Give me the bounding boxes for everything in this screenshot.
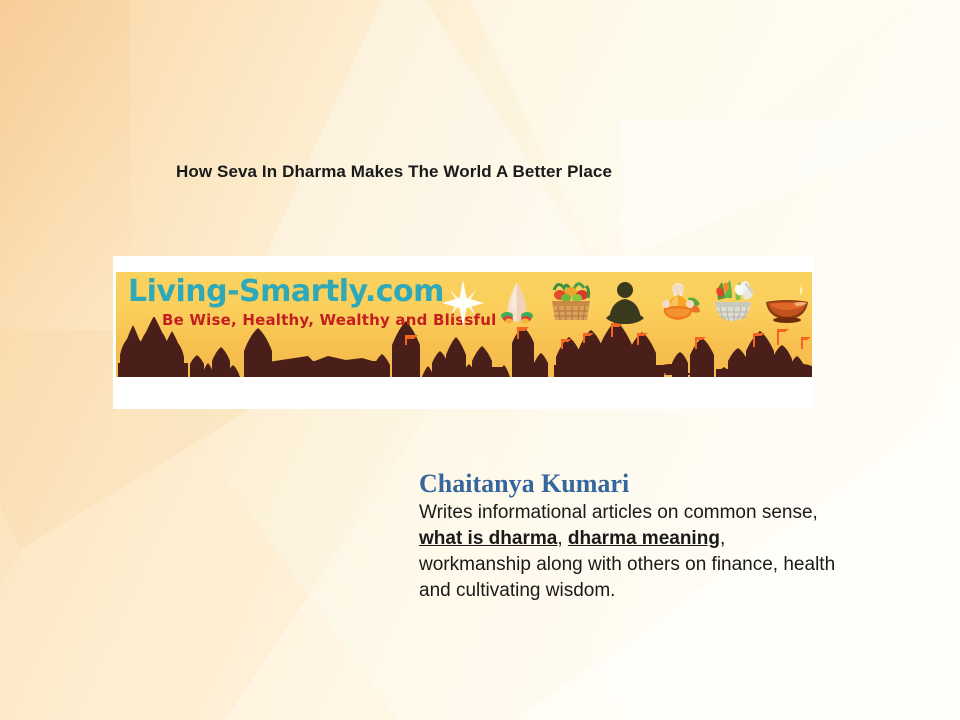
bio-text: Writes informational articles on common … (419, 502, 818, 523)
living-smartly-banner-image: Living-Smartly.com Be Wise, Healthy, Wea… (116, 272, 812, 377)
presentation-slide: How Seva In Dharma Makes The World A Bet… (0, 0, 960, 720)
bio-line: and cultivating wisdom. (419, 578, 949, 604)
background-shard (470, 0, 920, 250)
living-smartly-logo-text: Living-Smartly.com (128, 274, 444, 309)
mortar-pestle-herbs-icon (706, 276, 760, 330)
author-bio-text: Writes informational articles on common … (419, 500, 949, 603)
bio-line: workmanship along with others on finance… (419, 552, 949, 578)
author-bio-block: Chaitanya Kumari Writes informational ar… (419, 470, 949, 603)
bio-line: Writes informational articles on common … (419, 500, 949, 526)
author-name: Chaitanya Kumari (419, 470, 949, 498)
diya-lamp-icon (760, 276, 812, 330)
bio-text: , (557, 528, 568, 549)
page-title: How Seva In Dharma Makes The World A Bet… (176, 162, 612, 182)
namaste-hands-icon (490, 276, 544, 330)
background-shard (620, 120, 960, 260)
banner-card: Living-Smartly.com Be Wise, Healthy, Wea… (113, 256, 813, 409)
vegetable-basket-icon (544, 276, 598, 330)
background-shard (0, 360, 440, 720)
sparkle-star-icon (436, 276, 490, 330)
background-shard (0, 0, 130, 300)
bio-line: what is dharma, dharma meaning, (419, 526, 949, 552)
background-shard (250, 0, 610, 290)
meditation-figure-icon (598, 276, 652, 330)
sage-guru-icon (652, 276, 706, 330)
bio-text: and cultivating wisdom. (419, 580, 615, 601)
bio-link[interactable]: what is dharma (419, 528, 557, 549)
bio-link[interactable]: dharma meaning (568, 528, 720, 549)
banner-icon-row (436, 272, 812, 334)
bio-text: workmanship along with others on finance… (419, 554, 835, 575)
bio-text: , (720, 528, 725, 549)
